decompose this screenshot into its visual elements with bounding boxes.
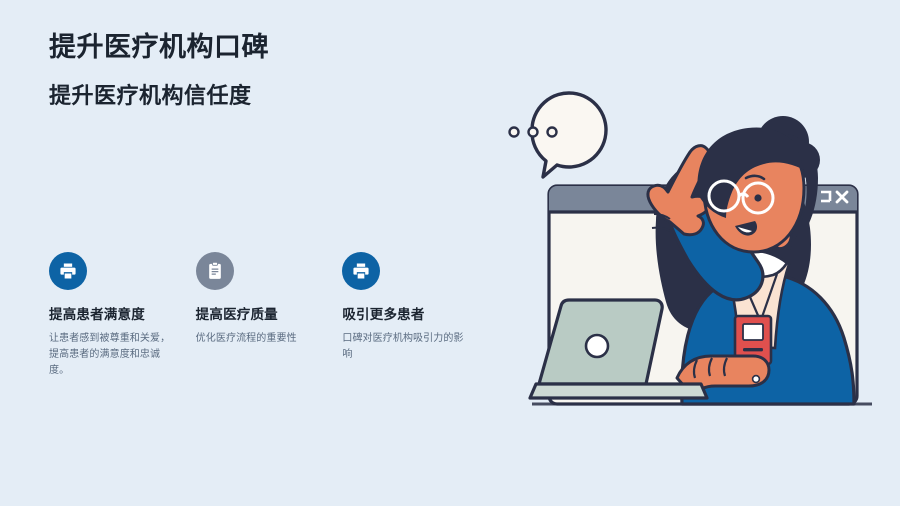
clipboard-icon — [196, 252, 234, 290]
feature-body: 让患者感到被尊重和关爱，提高患者的满意度和忠诚度。 — [49, 331, 174, 380]
feature-item: 提高医疗质量 优化医疗流程的重要性 — [196, 252, 343, 379]
figure-head — [697, 127, 818, 252]
title-block: 提升医疗机构口碑 提升医疗机构信任度 — [49, 32, 479, 109]
feature-title: 吸引更多患者 — [342, 307, 467, 324]
feature-item: 吸引更多患者 口碑对医疗机构吸引力的影响 — [342, 252, 489, 379]
page-subtitle: 提升医疗机构信任度 — [49, 83, 479, 109]
feature-body: 口碑对医疗机构吸引力的影响 — [342, 331, 467, 363]
printer-icon — [49, 252, 87, 290]
feature-title: 提高医疗质量 — [196, 307, 321, 324]
feature-title: 提高患者满意度 — [49, 307, 174, 324]
printer-icon — [342, 252, 380, 290]
hero-illustration — [492, 78, 900, 418]
page-title: 提升医疗机构口碑 — [49, 32, 479, 64]
feature-list: 提高患者满意度 让患者感到被尊重和关爱，提高患者的满意度和忠诚度。 提高医疗质量… — [49, 252, 489, 379]
feature-body: 优化医疗流程的重要性 — [196, 331, 321, 347]
slide-canvas: 提升医疗机构口碑 提升医疗机构信任度 提高患者满意度 让患者感到被尊重和关爱，提… — [0, 0, 900, 506]
speech-bubble-icon — [510, 93, 607, 177]
feature-item: 提高患者满意度 让患者感到被尊重和关爱，提高患者的满意度和忠诚度。 — [49, 252, 196, 379]
